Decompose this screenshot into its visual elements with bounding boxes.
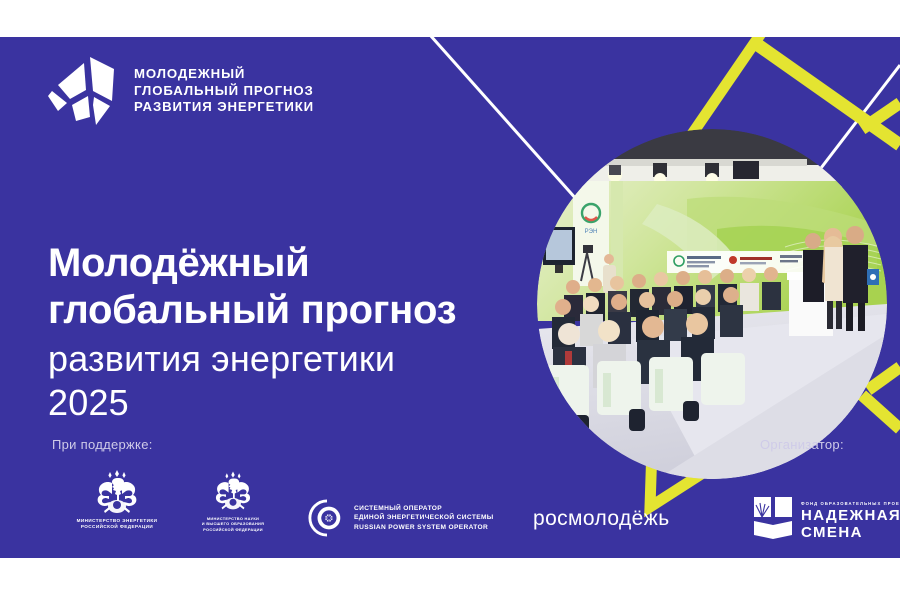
caption-line: РОССИЙСКОЙ ФЕДЕРАЦИИ [52,524,182,530]
conference-photo: РЭН [537,129,887,479]
so-line: ЕДИНОЙ ЭНЕРГЕТИЧЕСКОЙ СИСТЕМЫ [354,513,494,522]
so-line: СИСТЕМНЫЙ ОПЕРАТОР [354,504,494,513]
yellow-line-diagonal-right [862,103,900,129]
svg-text:РЭН: РЭН [585,229,598,235]
triangle-arrow-mark-icon [46,55,120,127]
system-operator-text: СИСТЕМНЫЙ ОПЕРАТОР ЕДИНОЙ ЭНЕРГЕТИЧЕСКОЙ… [354,504,494,532]
title-line-1: Молодёжный [48,240,456,287]
partner-logo-row: МИНИСТЕРСТВО ЭНЕРГЕТИКИ РОССИЙСКОЙ ФЕДЕР… [0,467,900,557]
organizer-name-line-1: НАДЕЖНАЯ [801,507,900,524]
organizer-name-line-2: СМЕНА [801,524,900,541]
partner-minobrnauki: МИНИСТЕРСТВО НАУКИ И ВЫСШЕГО ОБРАЗОВАНИЯ… [175,467,291,532]
organizer-label: Организатор: [760,437,844,452]
power-grid-circle-icon [308,499,346,537]
title-year: 2025 [48,381,456,425]
caption-line: РОССИЙСКОЙ ФЕДЕРАЦИИ [175,527,291,532]
yellow-line-diagonal-top [758,45,900,145]
russian-double-headed-eagle-icon [92,467,142,515]
yellow-line-lower-right-2 [862,395,900,429]
partner-minobrnauki-caption: МИНИСТЕРСТВО НАУКИ И ВЫСШЕГО ОБРАЗОВАНИЯ… [175,516,291,532]
partner-rosmolodezh: росмолодёжь [533,507,670,531]
organizer-wordmark: ФОНД ОБРАЗОВАТЕЛЬНЫХ ПРОЕКТОВ НАДЕЖНАЯ С… [801,495,900,541]
brand-lockup: МОЛОДЕЖНЫЙ ГЛОБАЛЬНЫЙ ПРОГНОЗ РАЗВИТИЯ Э… [46,55,314,127]
open-book-icon [752,495,794,539]
support-label: При поддержке: [52,437,153,452]
page-title: Молодёжный глобальный прогноз развития э… [48,240,456,425]
poster-canvas: РЭН [0,37,900,558]
brand-line-3: РАЗВИТИЯ ЭНЕРГЕТИКИ [134,99,314,116]
partner-system-operator: СИСТЕМНЫЙ ОПЕРАТОР ЕДИНОЙ ЭНЕРГЕТИЧЕСКОЙ… [308,499,494,537]
partner-minenergo: МИНИСТЕРСТВО ЭНЕРГЕТИКИ РОССИЙСКОЙ ФЕДЕР… [52,467,182,530]
yellow-line-vertical [690,37,762,137]
title-line-2: глобальный прогноз [48,287,456,334]
brand-wordmark: МОЛОДЕЖНЫЙ ГЛОБАЛЬНЫЙ ПРОГНОЗ РАЗВИТИЯ Э… [134,66,314,116]
brand-line-1: МОЛОДЕЖНЫЙ [134,66,314,83]
so-line: RUSSIAN POWER SYSTEM OPERATOR [354,523,494,532]
organizer-logo: ФОНД ОБРАЗОВАТЕЛЬНЫХ ПРОЕКТОВ НАДЕЖНАЯ С… [752,495,900,541]
title-line-3: развития энергетики [48,337,456,381]
partner-minenergo-caption: МИНИСТЕРСТВО ЭНЕРГЕТИКИ РОССИЙСКОЙ ФЕДЕР… [52,518,182,530]
brand-line-2: ГЛОБАЛЬНЫЙ ПРОГНОЗ [134,83,314,100]
russian-double-headed-eagle-icon [211,467,255,513]
